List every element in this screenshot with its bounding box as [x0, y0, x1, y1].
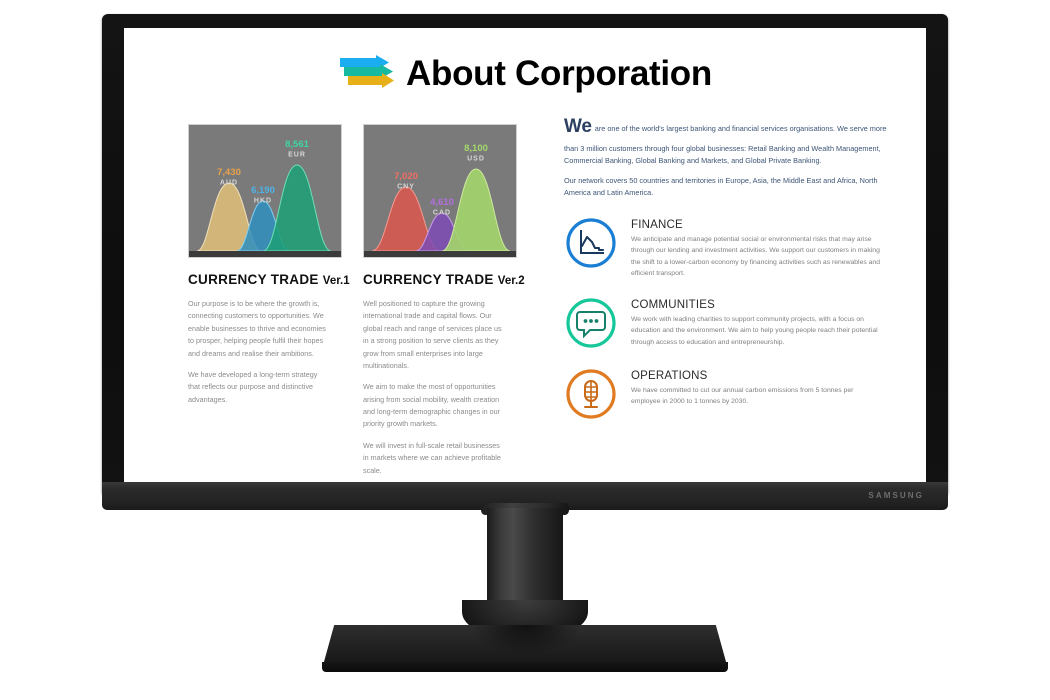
chart-1-svg: 7,430 AUD 6,190 HKD 8,561 EUR: [189, 125, 341, 257]
intro-paragraph-1: Weare one of the world's largest banking…: [564, 112, 894, 166]
screenshot-root: About Corporation 7,430: [0, 0, 1050, 700]
currency-chart-2: 7,020 CNY 4,610 CAD 8,100 USD: [363, 124, 517, 258]
intro-lead-word: We: [564, 116, 592, 137]
triple-arrow-logo-icon: [338, 54, 394, 92]
chart-1-paragraph-2: We have developed a long-term strategy t…: [188, 369, 330, 406]
chart-2-label-usd-code: USD: [467, 156, 485, 163]
speech-bubble-icon: [564, 296, 618, 350]
stand-base-shadow: [470, 625, 582, 655]
right-panel: Weare one of the world's largest banking…: [564, 112, 894, 421]
feature-communities: COMMUNITIES We work with leading chariti…: [564, 296, 894, 350]
chart-1-label-aud-code: AUD: [220, 180, 238, 187]
chart-2-heading-main: CURRENCY TRADE: [363, 272, 494, 287]
slide-title-row: About Corporation: [124, 54, 926, 92]
chart-card-2: 7,020 CNY 4,610 CAD 8,100 USD CURRENCY T…: [363, 124, 515, 483]
currency-chart-1: 7,430 AUD 6,190 HKD 8,561 EUR: [188, 124, 342, 258]
intro-block: Weare one of the world's largest banking…: [564, 112, 894, 199]
chart-1-label-eur-value: 8,561: [285, 139, 309, 150]
intro-paragraph-1-text: are one of the world's largest banking a…: [564, 124, 886, 165]
chart-card-1: 7,430 AUD 6,190 HKD 8,561 EUR CURRENCY T…: [188, 124, 340, 415]
chart-2-label-cny-code: CNY: [397, 184, 415, 191]
chart-2-svg: 7,020 CNY 4,610 CAD 8,100 USD: [364, 125, 516, 257]
feature-operations-title: OPERATIONS: [631, 370, 883, 382]
monitor-screen: About Corporation 7,430: [124, 28, 926, 483]
chart-1-label-hkd-code: HKD: [254, 198, 272, 205]
feature-finance-body: We anticipate and manage potential socia…: [631, 234, 883, 279]
presentation-slide: About Corporation 7,430: [124, 28, 926, 483]
chart-2-paragraph-3: We will invest in full-scale retail busi…: [363, 440, 505, 477]
line-chart-icon: [564, 216, 618, 270]
monitor-body: About Corporation 7,430: [102, 14, 948, 494]
feature-finance-title: FINANCE: [631, 219, 883, 231]
chart-2-label-cad-code: CAD: [433, 210, 451, 217]
chart-2-label-usd-value: 8,100: [464, 143, 488, 154]
chart-2-body: Well positioned to capture the growing i…: [363, 298, 505, 477]
page-title: About Corporation: [406, 56, 712, 91]
chart-1-label-aud-value: 7,430: [217, 167, 241, 178]
chart-1-paragraph-1: Our purpose is to be where the growth is…: [188, 298, 330, 360]
chart-1-label-eur-code: EUR: [288, 152, 306, 159]
chart-1-heading: CURRENCY TRADE Ver.1: [188, 272, 340, 287]
feature-operations-body: We have committed to cut our annual carb…: [631, 385, 883, 408]
chart-2-label-cad-value: 4,610: [430, 197, 454, 208]
brand-logo: SAMSUNG: [868, 491, 924, 500]
chart-2-label-cny-value: 7,020: [394, 171, 418, 182]
feature-finance: FINANCE We anticipate and manage potenti…: [564, 216, 894, 279]
chart-1-heading-main: CURRENCY TRADE: [188, 272, 319, 287]
intro-paragraph-2: Our network covers 50 countries and terr…: [564, 175, 894, 199]
feature-operations-text: OPERATIONS We have committed to cut our …: [631, 367, 883, 408]
chart-2-heading-version: Ver.2: [498, 275, 525, 287]
feature-communities-text: COMMUNITIES We work with leading chariti…: [631, 296, 883, 348]
chart-2-paragraph-2: We aim to make the most of opportunities…: [363, 381, 505, 431]
chart-1-heading-version: Ver.1: [323, 275, 350, 287]
chart-1-body: Our purpose is to be where the growth is…: [188, 298, 330, 406]
chart-1-label-hkd-value: 6,190: [251, 185, 275, 196]
feature-communities-body: We work with leading charities to suppor…: [631, 314, 883, 348]
feature-communities-title: COMMUNITIES: [631, 299, 883, 311]
microphone-icon: [564, 367, 618, 421]
chart-2-paragraph-1: Well positioned to capture the growing i…: [363, 298, 505, 372]
chart-2-heading: CURRENCY TRADE Ver.2: [363, 272, 515, 287]
feature-operations: OPERATIONS We have committed to cut our …: [564, 367, 894, 421]
stand-base-lip: [322, 662, 728, 672]
feature-finance-text: FINANCE We anticipate and manage potenti…: [631, 216, 883, 279]
